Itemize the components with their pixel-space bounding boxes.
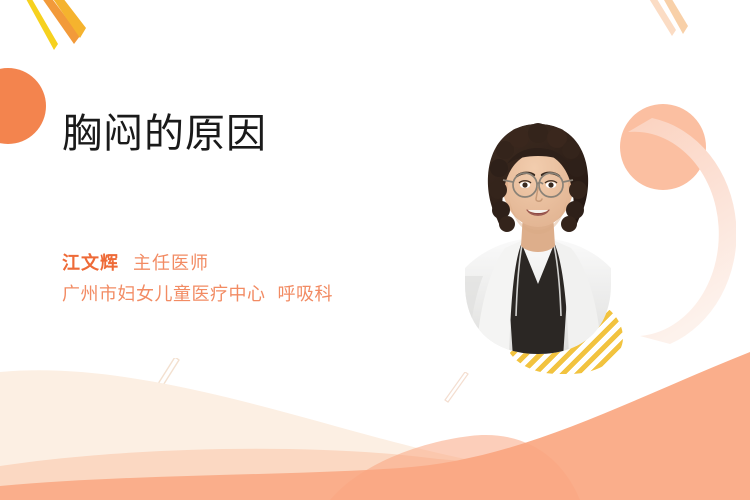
faint-stroke-right-icon — [440, 372, 476, 406]
diagonal-strokes-top-left-icon — [18, 0, 102, 58]
wave-peach-decor — [0, 300, 750, 500]
doctor-affiliation-line: 广州市妇女儿童医疗中心呼吸科 — [62, 279, 482, 310]
orange-circle-decor — [0, 68, 46, 144]
wave-salmon-decor — [0, 300, 750, 500]
doctor-department: 呼吸科 — [278, 284, 334, 304]
faint-stroke-bottom-icon — [145, 358, 191, 402]
diagonal-strokes-top-right-icon — [636, 0, 706, 40]
doctor-name-line: 江文辉主任医师 — [62, 248, 482, 279]
page-title: 胸闷的原因 — [62, 114, 462, 154]
doctor-credits-block: 江文辉主任医师 广州市妇女儿童医疗中心呼吸科 — [62, 248, 482, 310]
doctor-intro-slide: 胸闷的原因 江文辉主任医师 广州市妇女儿童医疗中心呼吸科 — [0, 0, 750, 500]
doctor-portrait — [443, 106, 633, 358]
doctor-hospital: 广州市妇女儿童医疗中心 — [62, 284, 266, 304]
wave-cream-decor — [0, 300, 750, 500]
doctor-name: 江文辉 — [62, 253, 119, 273]
title-block: 胸闷的原因 — [62, 114, 462, 154]
doctor-rank: 主任医师 — [133, 253, 209, 273]
